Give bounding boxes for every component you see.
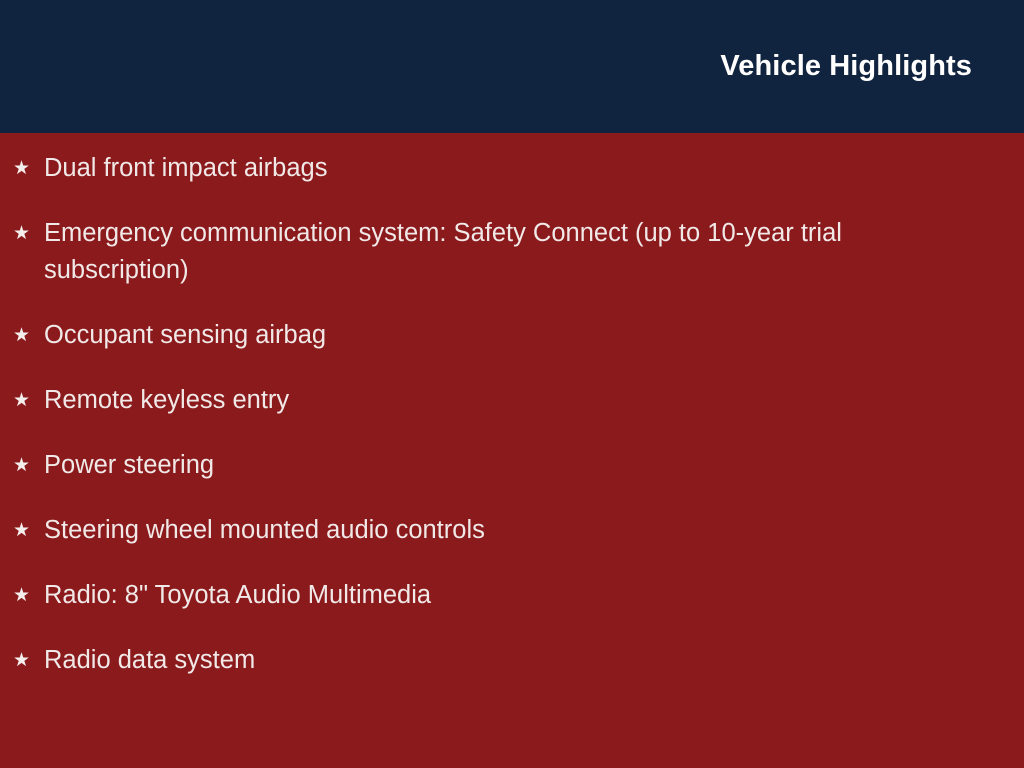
- list-item: ★ Power steering: [13, 447, 962, 484]
- list-item-label: Radio: 8" Toyota Audio Multimedia: [44, 577, 949, 614]
- list-item-label: Power steering: [44, 447, 949, 484]
- slide-header: Vehicle Highlights: [0, 0, 1024, 133]
- list-item-label: Remote keyless entry: [44, 382, 949, 419]
- star-icon: ★: [13, 215, 44, 252]
- list-item: ★ Dual front impact airbags: [13, 150, 962, 187]
- list-item-label: Occupant sensing airbag: [44, 317, 949, 354]
- list-item: ★ Steering wheel mounted audio controls: [13, 512, 962, 549]
- slide-body: ★ Dual front impact airbags ★ Emergency …: [0, 133, 1024, 768]
- star-icon: ★: [13, 382, 44, 419]
- list-item-label: Steering wheel mounted audio controls: [44, 512, 949, 549]
- vehicle-highlights-list: ★ Dual front impact airbags ★ Emergency …: [13, 150, 962, 679]
- star-icon: ★: [13, 447, 44, 484]
- list-item: ★ Radio: 8" Toyota Audio Multimedia: [13, 577, 962, 614]
- star-icon: ★: [13, 150, 44, 187]
- list-item: ★ Radio data system: [13, 642, 962, 679]
- page-title: Vehicle Highlights: [720, 52, 972, 81]
- list-item: ★ Occupant sensing airbag: [13, 317, 962, 354]
- list-item-label: Emergency communication system: Safety C…: [44, 215, 949, 289]
- star-icon: ★: [13, 512, 44, 549]
- list-item: ★ Remote keyless entry: [13, 382, 962, 419]
- star-icon: ★: [13, 317, 44, 354]
- star-icon: ★: [13, 642, 44, 679]
- list-item-label: Dual front impact airbags: [44, 150, 949, 187]
- list-item-label: Radio data system: [44, 642, 949, 679]
- slide: Vehicle Highlights ★ Dual front impact a…: [0, 0, 1024, 768]
- star-icon: ★: [13, 577, 44, 614]
- list-item: ★ Emergency communication system: Safety…: [13, 215, 962, 289]
